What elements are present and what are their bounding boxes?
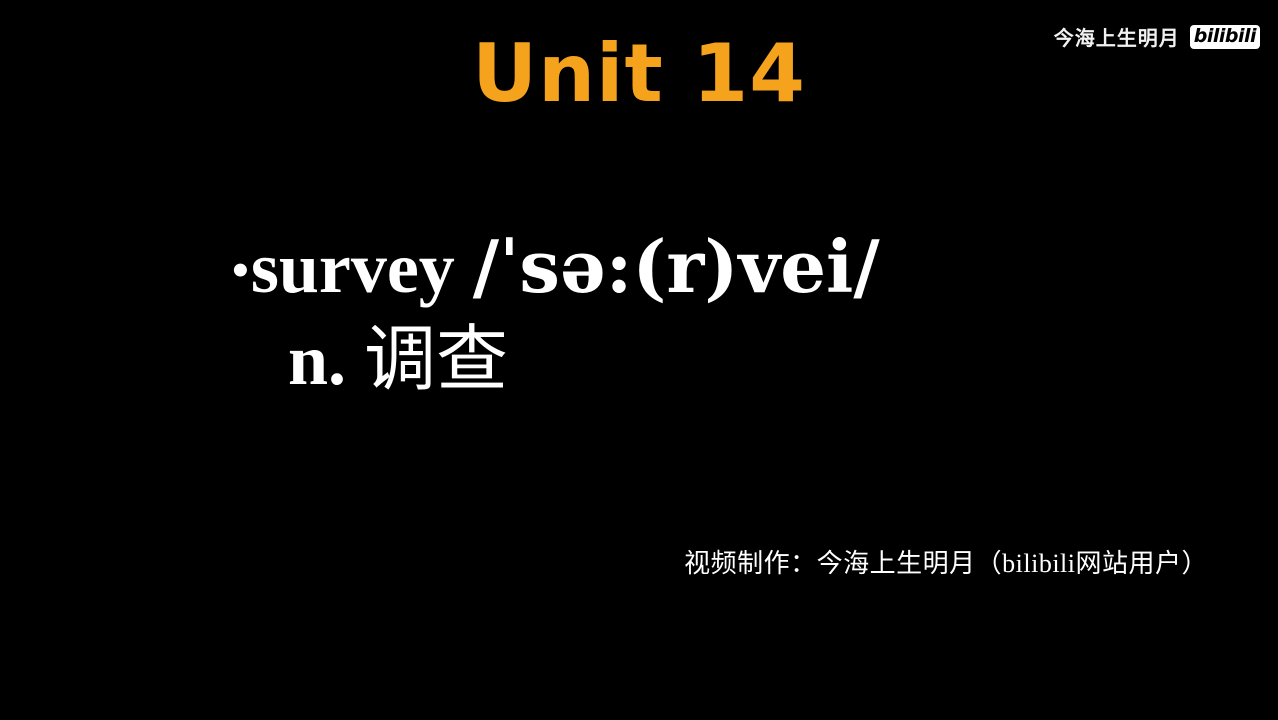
vocab-meaning: 调查 — [364, 317, 508, 401]
bullet-icon: • — [232, 244, 249, 297]
vocab-block: •survey /ˈsə:(r)vei/ n. 调查 — [232, 222, 1232, 405]
vocab-phonetic: /ˈsə:(r)vei/ — [473, 224, 880, 309]
slide-canvas: 今海上生明月 bilibili Unit 14 •survey /ˈsə:(r)… — [0, 0, 1278, 720]
vocab-word: survey — [251, 228, 455, 308]
vocab-part-of-speech: n. — [288, 320, 346, 400]
vocab-meaning-line: n. 调查 — [288, 314, 1232, 406]
slide-title: Unit 14 — [0, 30, 1278, 118]
credit-text: 视频制作：今海上生明月（bilibili网站用户） — [684, 543, 1208, 580]
vocab-word-line: •survey /ˈsə:(r)vei/ — [232, 222, 1232, 314]
